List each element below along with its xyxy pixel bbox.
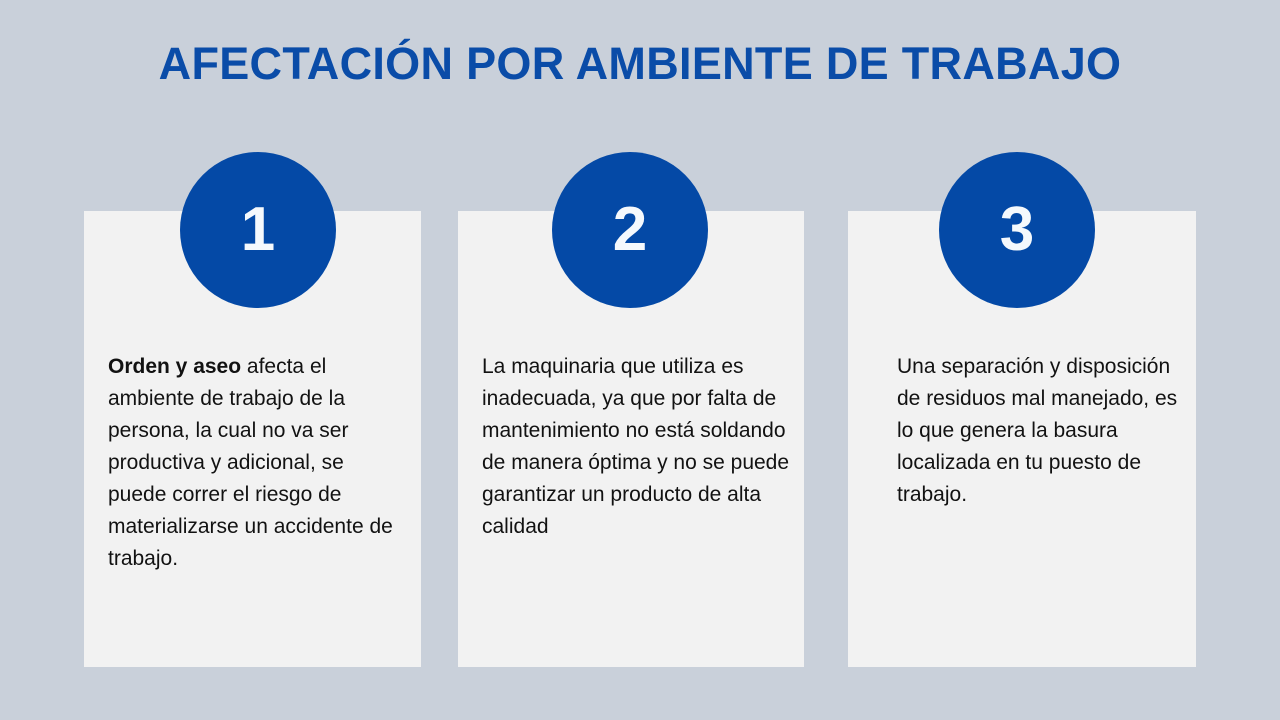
card-2-text: La maquinaria que utiliza es inadecuada,…: [458, 351, 804, 543]
step-number-badge-3: 3: [939, 152, 1095, 308]
slide-canvas: AFECTACIÓN POR AMBIENTE DE TRABAJO Orden…: [0, 0, 1280, 720]
card-1-lead: Orden y aseo: [108, 355, 241, 378]
card-1-body: afecta el ambiente de trabajo de la pers…: [108, 355, 393, 570]
step-number-badge-2: 2: [552, 152, 708, 308]
card-1-text: Orden y aseo afecta el ambiente de traba…: [84, 351, 421, 575]
card-3-text: Una separación y disposición de residuos…: [848, 351, 1196, 511]
step-number-badge-1: 1: [180, 152, 336, 308]
card-3-body: Una separación y disposición de residuos…: [897, 355, 1177, 506]
card-2-body: La maquinaria que utiliza es inadecuada,…: [482, 355, 789, 538]
cards-row: Orden y aseo afecta el ambiente de traba…: [0, 0, 1280, 720]
